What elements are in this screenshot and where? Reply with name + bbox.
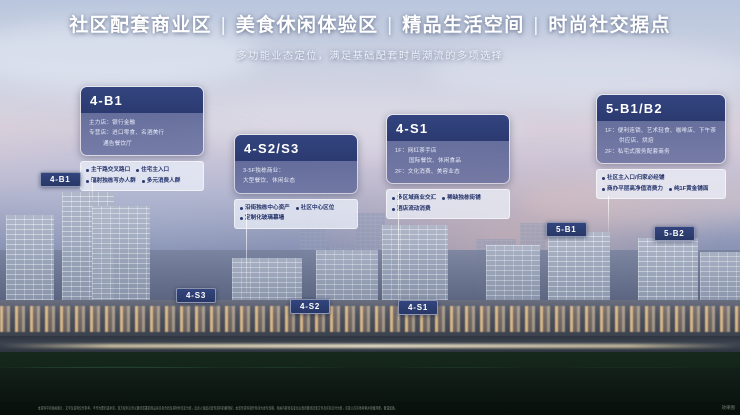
- card-leader-line: [246, 212, 247, 294]
- card-line: 通告餐饮厅: [89, 139, 195, 149]
- bullet-label: 纯1F黄金铺面: [674, 185, 709, 195]
- card-line: 2F：文化消费、美容业态: [395, 167, 501, 177]
- title-part-1: 社区配套商业区: [69, 15, 212, 36]
- bullet-label: 辐射独栋写办人群: [91, 177, 136, 187]
- card-line: 1F：便利连锁、艺术轻食、咖啡店、下午茶: [605, 126, 717, 136]
- card-body: 1F：便利连锁、艺术轻食、咖啡店、下午茶 供应店、烘焙 2F：私宅式服务配套商务: [597, 121, 725, 163]
- card-title: 5-B1/B2: [597, 95, 725, 121]
- card-line: 2F：私宅式服务配套商务: [605, 147, 717, 157]
- bullet-dot-icon: [669, 188, 672, 191]
- card-line: 3-5F独栋商业：: [243, 166, 349, 176]
- card-line: 大型餐饮、休闲业态: [243, 176, 349, 186]
- bullet-dot-icon: [240, 217, 243, 220]
- card-body: 3-5F独栋商业： 大型餐饮、休闲业态: [235, 161, 357, 193]
- marketing-slide: 社区配套商业区 | 美食休闲体验区 | 精品生活空间 | 时尚社交据点 多功能业…: [0, 0, 740, 415]
- card-body: 主力店：银行金融 专营店：进口零食、名酒美行 通告餐饮厅: [81, 113, 203, 155]
- bullet-label: 社区主入口/归家必经铺: [607, 174, 665, 184]
- bullet-dot-icon: [296, 207, 299, 210]
- headline-block: 社区配套商业区 | 美食休闲体验区 | 精品生活空间 | 时尚社交据点 多功能业…: [0, 14, 740, 62]
- card-bullet-list: 沿街独栋中心资产 社区中心区位 定制化玻璃幕墙: [234, 199, 358, 229]
- card-box: 4-B1 主力店：银行金融 专营店：进口零食、名酒美行 通告餐饮厅: [80, 86, 204, 156]
- title-separator: |: [531, 15, 541, 36]
- card-leader-line: [608, 196, 609, 232]
- info-card-4-s2-s3[interactable]: 4-S2/S3 3-5F独栋商业： 大型餐饮、休闲业态 沿街独栋中心资产 社区中…: [234, 134, 358, 229]
- card-title: 4-S1: [387, 115, 509, 141]
- card-title: 4-S2/S3: [235, 135, 357, 161]
- bullet-dot-icon: [392, 197, 395, 200]
- bullet-label: 商办平层高净值消费力: [607, 185, 663, 195]
- storefront-lights: [0, 306, 740, 332]
- card-bullet-list: 主干路交叉路口 住宅主入口 辐射独栋写办人群 多元消费人群: [80, 161, 204, 191]
- bullet-label: 稀缺独栋街铺: [447, 194, 481, 204]
- card-box: 4-S1 1F：网红茶手店 国际餐饮、休闲食品 2F：文化消费、美容业态: [386, 114, 510, 184]
- list-item: 主干路交叉路口: [86, 166, 130, 176]
- list-item: 社区主入口/归家必经铺: [602, 174, 665, 184]
- card-line: 专营店：进口零食、名酒美行: [89, 128, 195, 138]
- card-line: 1F：网红茶手店: [395, 146, 501, 156]
- bullet-dot-icon: [442, 197, 445, 200]
- info-card-4-b1[interactable]: 4-B1 主力店：银行金融 专营店：进口零食、名酒美行 通告餐饮厅 主干路交叉路…: [80, 86, 204, 191]
- watermark-label: 效果图: [722, 405, 740, 411]
- bullet-dot-icon: [86, 180, 89, 183]
- card-body: 1F：网红茶手店 国际餐饮、休闲食品 2F：文化消费、美容业态: [387, 141, 509, 183]
- bullet-dot-icon: [240, 207, 243, 210]
- bullet-dot-icon: [392, 208, 395, 211]
- list-item: 商办平层高净值消费力: [602, 185, 663, 195]
- building-tag-5-b2[interactable]: 5-B2: [654, 226, 695, 241]
- bullet-label: 沿街独栋中心资产: [245, 204, 290, 214]
- card-leader-line: [92, 178, 93, 200]
- footer-bar: 本资料中的相关图片、文字及说明仅作参考，不作为要约或承诺，双方权利义务以最终签署…: [0, 401, 740, 415]
- bullet-label: 主干路交叉路口: [91, 166, 130, 176]
- bullet-dot-icon: [86, 169, 89, 172]
- list-item: 住宅主入口: [136, 166, 169, 176]
- list-item: 稀缺独栋街铺: [442, 194, 481, 204]
- list-item: 辐射独栋写办人群: [86, 177, 136, 187]
- title-part-3: 精品生活空间: [402, 15, 524, 36]
- building-tag-5-b1[interactable]: 5-B1: [546, 222, 587, 237]
- bullet-label: 多区域商业交汇: [397, 194, 436, 204]
- card-box: 4-S2/S3 3-5F独栋商业： 大型餐饮、休闲业态: [234, 134, 358, 194]
- bullet-dot-icon: [142, 180, 145, 183]
- bullet-dot-icon: [602, 188, 605, 191]
- street-light-trail: [0, 344, 740, 348]
- building-tag-4-s3[interactable]: 4-S3: [176, 288, 216, 303]
- legal-disclaimer: 本资料中的相关图片、文字及说明仅作参考，不作为要约或承诺，双方权利义务以最终签署…: [0, 405, 722, 411]
- card-line: 主力店：银行金融: [89, 118, 195, 128]
- list-item: 多元消费人群: [142, 177, 181, 187]
- bullet-dot-icon: [136, 169, 139, 172]
- bullet-label: 酒店流动消费: [397, 205, 431, 215]
- title-part-4: 时尚社交据点: [548, 15, 670, 36]
- card-bullet-list: 多区域商业交汇 稀缺独栋街铺 酒店流动消费: [386, 189, 510, 219]
- info-card-5-b1-b2[interactable]: 5-B1/B2 1F：便利连锁、艺术轻食、咖啡店、下午茶 供应店、烘焙 2F：私…: [596, 94, 726, 199]
- bullet-label: 社区中心区位: [301, 204, 335, 214]
- card-box: 5-B1/B2 1F：便利连锁、艺术轻食、咖啡店、下午茶 供应店、烘焙 2F：私…: [596, 94, 726, 164]
- bullet-label: 住宅主入口: [141, 166, 169, 176]
- building-tag-4-s1[interactable]: 4-S1: [398, 300, 438, 315]
- list-item: 沿街独栋中心资产: [240, 204, 290, 214]
- card-line: 国际餐饮、休闲食品: [395, 156, 501, 166]
- title-separator: |: [219, 15, 229, 36]
- bullet-label: 多元消费人群: [147, 177, 181, 187]
- card-bullet-list: 社区主入口/归家必经铺 商办平层高净值消费力 纯1F黄金铺面: [596, 169, 726, 199]
- info-card-4-s1[interactable]: 4-S1 1F：网红茶手店 国际餐饮、休闲食品 2F：文化消费、美容业态 多区域…: [386, 114, 510, 219]
- bullet-dot-icon: [602, 177, 605, 180]
- card-line: 供应店、烘焙: [605, 136, 717, 146]
- list-item: 纯1F黄金铺面: [669, 185, 709, 195]
- building-tag-4-s2[interactable]: 4-S2: [290, 299, 330, 314]
- building-tag-4-b1[interactable]: 4-B1: [40, 172, 81, 187]
- title-separator: |: [385, 15, 395, 36]
- list-item: 社区中心区位: [296, 204, 335, 214]
- title-part-2: 美食休闲体验区: [236, 15, 379, 36]
- bullet-label: 定制化玻璃幕墙: [245, 214, 284, 224]
- page-title: 社区配套商业区 | 美食休闲体验区 | 精品生活空间 | 时尚社交据点: [0, 14, 740, 38]
- page-subtitle: 多功能业态定位，满足基础配套时尚潮流的多项选择: [0, 47, 740, 62]
- card-title: 4-B1: [81, 87, 203, 113]
